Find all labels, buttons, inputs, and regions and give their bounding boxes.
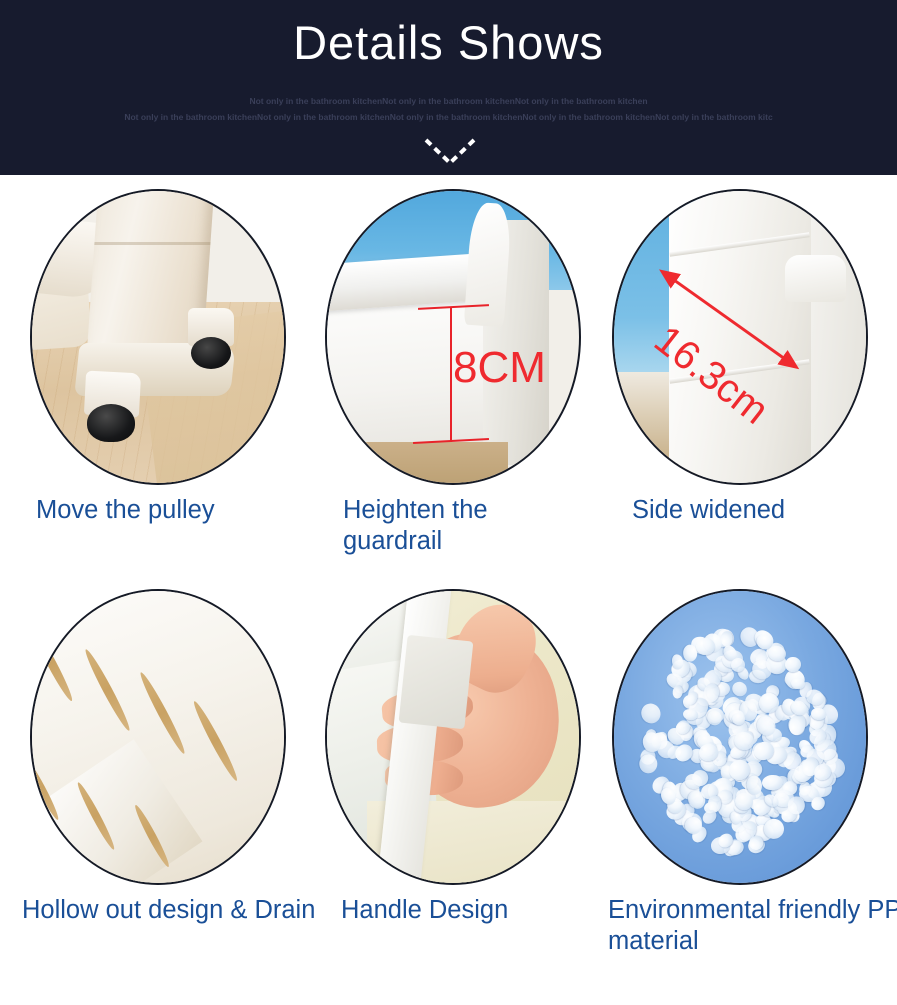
caption-environmental-friendly-pp-material: Environmental friendly PP material <box>608 895 897 957</box>
caster-wheel-rear <box>191 337 231 369</box>
caption-hollow-out-design-drain: Hollow out design & Drain <box>22 895 322 926</box>
page-title: Details Shows <box>0 16 897 70</box>
chevron-down-icon <box>420 138 480 168</box>
caption-move-the-pulley: Move the pulley <box>36 495 336 526</box>
dimension-label-8cm: 8CM <box>453 346 546 390</box>
caption-handle-design: Handle Design <box>341 895 601 926</box>
pp-pellet-pile <box>637 626 844 854</box>
photo-hollow-out-design <box>30 589 286 885</box>
photo-heighten-the-guardrail: 8CM <box>325 189 581 485</box>
pp-pellet <box>748 835 763 850</box>
caption-heighten-the-guardrail: Heighten the guardrail <box>343 495 593 557</box>
photo-move-the-pulley <box>30 189 286 485</box>
page-header: Details Shows Not only in the bathroom k… <box>0 0 897 175</box>
header-ticker-line-2: Not only in the bathroom kitchenNot only… <box>0 112 897 122</box>
floor-strip <box>327 442 508 485</box>
header-ticker-line-1: Not only in the bathroom kitchenNot only… <box>0 96 897 106</box>
pp-pellet <box>638 700 664 727</box>
details-shows-page: Details Shows Not only in the bathroom k… <box>0 0 897 1005</box>
caption-side-widened: Side widened <box>632 495 892 526</box>
pp-pellet <box>639 754 658 774</box>
caster-wheel-front <box>87 404 135 442</box>
photo-pp-material <box>612 589 868 885</box>
handle-opening <box>398 635 472 729</box>
photo-side-widened: 16.3cm <box>612 189 868 485</box>
dimension-arrow-diagonal <box>614 191 866 483</box>
feature-grid: Move the pulley 8CM Heighten the guardra… <box>0 175 897 1005</box>
pp-pellet <box>672 685 683 699</box>
photo-handle-design <box>325 589 581 885</box>
